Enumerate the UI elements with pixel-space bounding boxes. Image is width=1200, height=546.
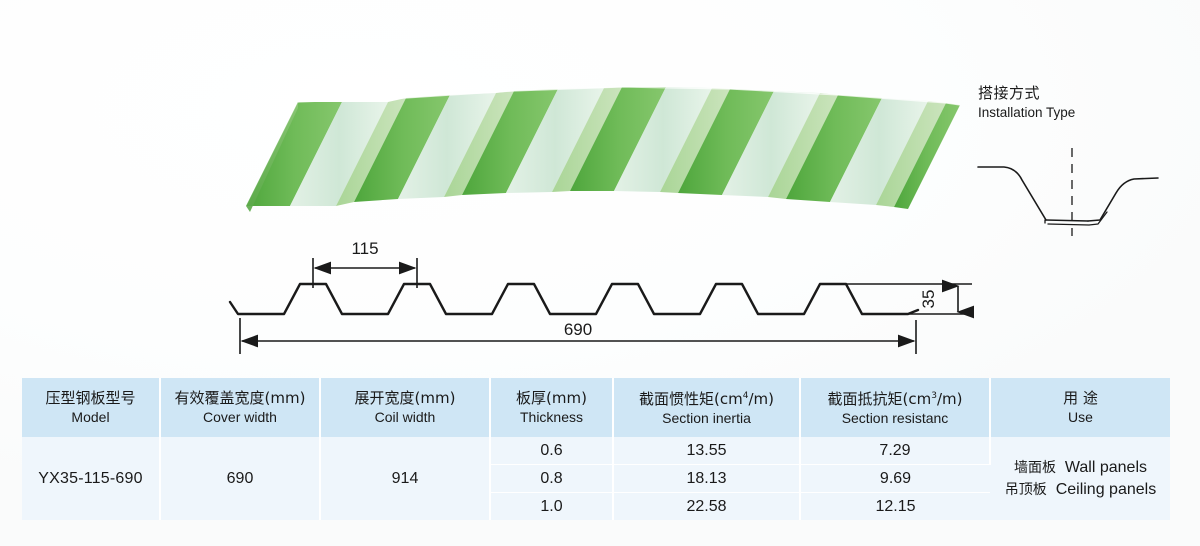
spec-sheet-page: 搭接方式 Installation Type — [0, 0, 1200, 546]
height-dimension-label: 35 — [919, 290, 938, 309]
header-cn: 截面抵抗矩(cm3/m) — [805, 387, 985, 409]
corrugated-steel-sheet-photo — [238, 62, 960, 214]
header-cn: 截面惯性矩(cm4/m) — [618, 387, 795, 409]
cell-section-resistance: 9.69 — [800, 465, 990, 493]
cell-section-resistance: 7.29 — [800, 437, 990, 465]
column-header-use: 用 途 Use — [990, 378, 1170, 437]
header-cn-tail: /m) — [748, 390, 774, 408]
pitch-dimension-label: 115 — [351, 239, 378, 258]
header-en: Model — [26, 408, 155, 426]
cell-cover-width: 690 — [160, 437, 320, 520]
overall-width-dimension-label: 690 — [564, 320, 592, 339]
header-cn: 用 途 — [995, 389, 1166, 408]
specification-table: 压型钢板型号 Model 有效覆盖宽度(mm) Cover width 展开宽度… — [22, 378, 1170, 520]
column-header-cover-width: 有效覆盖宽度(mm) Cover width — [160, 378, 320, 437]
cell-model: YX35-115-690 — [22, 437, 160, 520]
header-en: Coil width — [325, 408, 485, 426]
header-cn: 压型钢板型号 — [26, 389, 155, 408]
column-header-coil-width: 展开宽度(mm) Coil width — [320, 378, 490, 437]
header-cn: 有效覆盖宽度(mm) — [165, 389, 315, 408]
use-line-2: 吊顶板 Ceiling panels — [991, 479, 1170, 501]
cell-thickness: 1.0 — [490, 493, 613, 521]
cell-section-resistance: 12.15 — [800, 493, 990, 521]
header-en: Use — [995, 408, 1166, 426]
installation-overlap-diagram — [976, 128, 1191, 238]
cell-coil-width: 914 — [320, 437, 490, 520]
cell-section-inertia: 18.13 — [613, 465, 800, 493]
header-en: Section resistanc — [805, 409, 985, 427]
header-cn-tail: /m) — [937, 390, 963, 408]
header-cn: 板厚(mm) — [495, 389, 608, 408]
use-line-1: 墙面板 Wall panels — [991, 457, 1170, 479]
table-row: YX35-115-690 690 914 0.6 13.55 7.29 墙面板 … — [22, 437, 1170, 465]
header-en: Thickness — [495, 408, 608, 426]
cell-thickness: 0.8 — [490, 465, 613, 493]
cell-section-inertia: 13.55 — [613, 437, 800, 465]
installation-type-block: 搭接方式 Installation Type — [978, 84, 1193, 121]
header-en: Section inertia — [618, 409, 795, 427]
cell-section-inertia: 22.58 — [613, 493, 800, 521]
use-line-2-cn: 吊顶板 — [1005, 482, 1047, 498]
cell-use: 墙面板 Wall panels 吊顶板 Ceiling panels — [990, 437, 1170, 520]
use-line-1-cn: 墙面板 — [1014, 460, 1056, 476]
table-header-row: 压型钢板型号 Model 有效覆盖宽度(mm) Cover width 展开宽度… — [22, 378, 1170, 437]
column-header-section-inertia: 截面惯性矩(cm4/m) Section inertia — [613, 378, 800, 437]
header-cn-text: 截面抵抗矩(cm — [828, 390, 932, 408]
header-cn: 展开宽度(mm) — [325, 389, 485, 408]
column-header-thickness: 板厚(mm) Thickness — [490, 378, 613, 437]
installation-title-en: Installation Type — [978, 104, 1193, 121]
use-line-1-en: Wall panels — [1065, 459, 1147, 476]
column-header-model: 压型钢板型号 Model — [22, 378, 160, 437]
installation-title-cn: 搭接方式 — [978, 84, 1193, 103]
cell-thickness: 0.6 — [490, 437, 613, 465]
use-line-2-en: Ceiling panels — [1056, 481, 1157, 498]
header-cn-text: 截面惯性矩(cm — [639, 390, 743, 408]
profile-section-drawing: 115 690 35 — [228, 236, 980, 366]
column-header-section-resistance: 截面抵抗矩(cm3/m) Section resistanc — [800, 378, 990, 437]
header-en: Cover width — [165, 408, 315, 426]
